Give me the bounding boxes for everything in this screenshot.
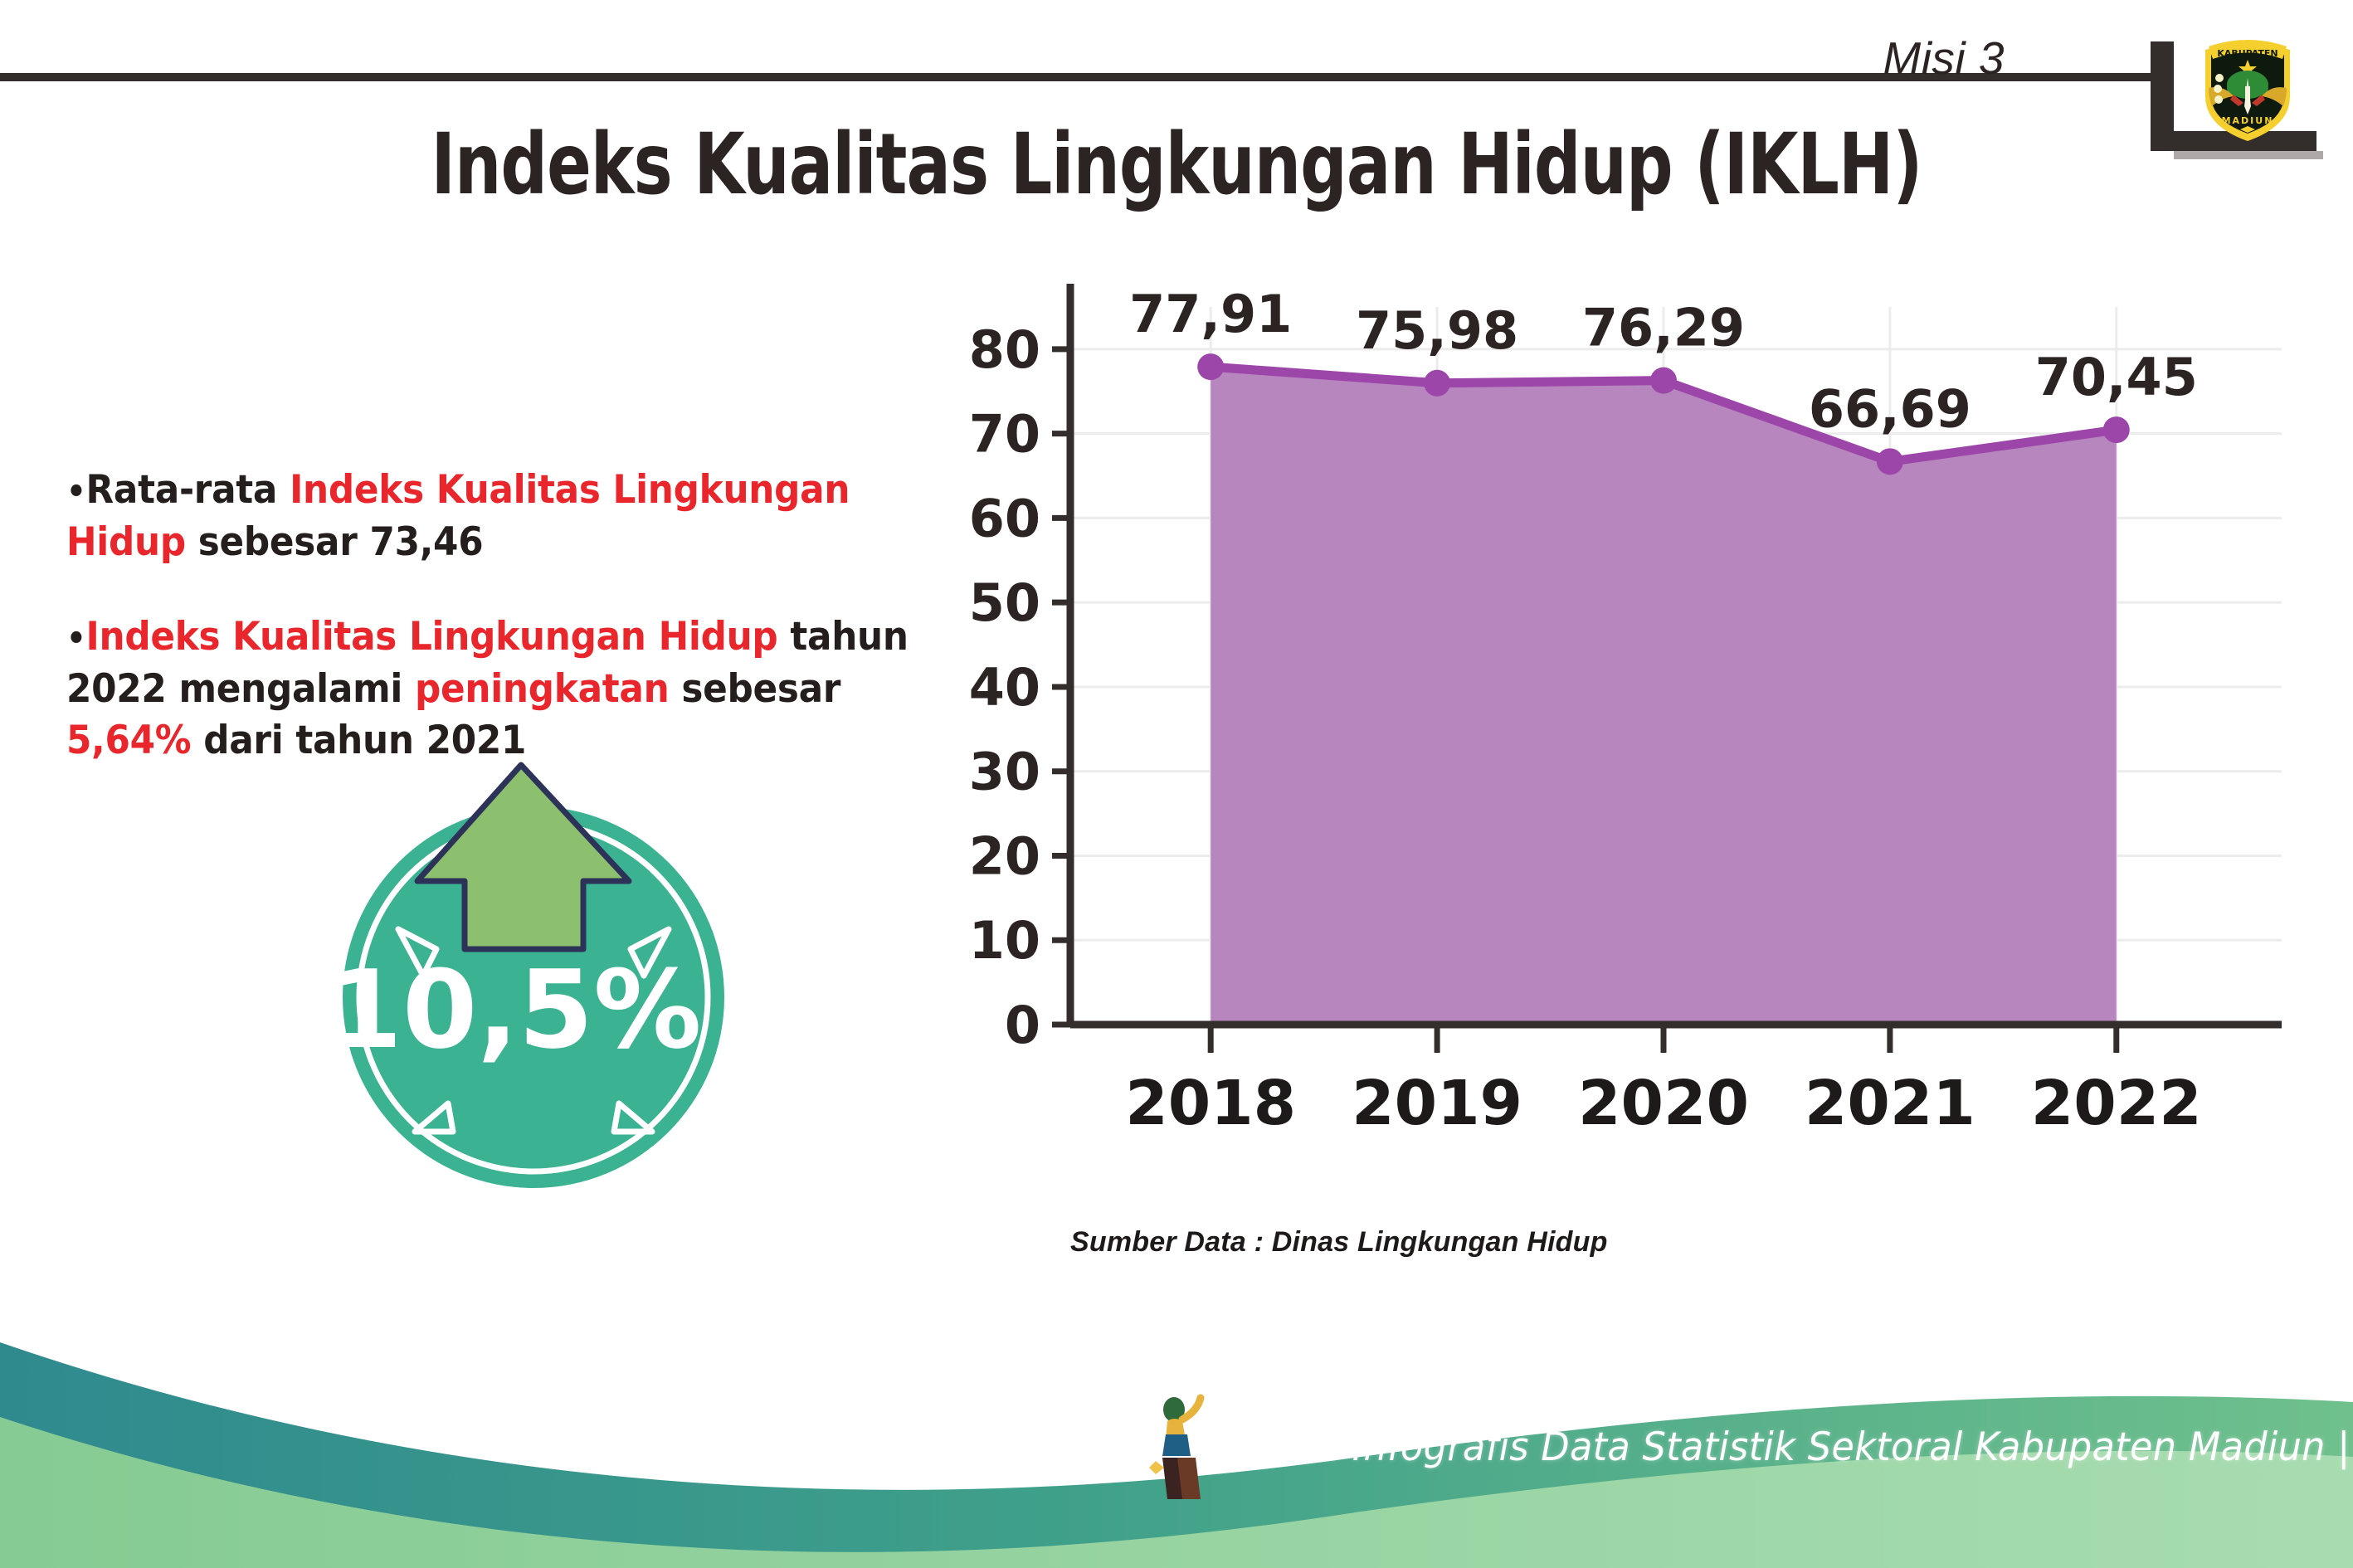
data-label: 76,29 [1582, 298, 1745, 358]
iklh-area-chart: 77,9175,9876,2966,6970,45010203040506070… [954, 274, 2298, 1203]
bullet-2-seg-1: Indeks Kualitas Lingkungan Hidup [86, 614, 778, 660]
mission-label: Misi 3 [1883, 32, 2005, 85]
bullet-1-seg-1: Rata-rata [86, 467, 290, 513]
data-point-marker [1650, 368, 1677, 394]
footer-caption: Media Infografis Data Statistik Sektoral… [1228, 1424, 2351, 1470]
data-point-marker [1424, 370, 1450, 397]
page-title: Indeks Kualitas Lingkungan Hidup (IKLH) [94, 116, 2258, 214]
y-tick-label: 0 [1005, 995, 1040, 1055]
bullet-2-seg-3: peningkatan [415, 666, 669, 712]
data-label: 75,98 [1356, 300, 1518, 361]
y-tick-label: 60 [969, 488, 1040, 548]
data-point-marker [1197, 353, 1224, 380]
data-point-marker [1877, 448, 1903, 475]
y-tick-label: 20 [969, 825, 1040, 886]
x-tick-label: 2018 [1125, 1068, 1296, 1139]
data-point-marker [2103, 416, 2130, 443]
bullet-item-2: •Indeks Kualitas Lingkungan Hidup tahun … [66, 611, 923, 767]
x-tick-label: 2021 [1805, 1068, 1975, 1139]
y-tick-label: 70 [969, 404, 1040, 465]
bullet-1-seg-3: sebesar 73,46 [186, 519, 483, 565]
bullet-2-seg-4: sebesar [669, 666, 840, 712]
x-tick-label: 2019 [1352, 1068, 1522, 1139]
header-divider [0, 73, 2157, 81]
infographic-slide: Misi 3 KABUPATEN [0, 0, 2353, 1568]
y-tick-label: 50 [969, 572, 1040, 633]
y-tick-label: 40 [969, 657, 1040, 718]
x-tick-label: 2022 [2031, 1068, 2202, 1139]
footer-wave: Media Infografis Data Statistik Sektoral… [0, 1294, 2353, 1568]
increase-badge: 10,5% [322, 757, 753, 1196]
y-tick-label: 80 [969, 319, 1040, 380]
bullet-item-1: •Rata-rata Indeks Kualitas Lingkungan Hi… [66, 465, 923, 568]
data-label: 77,91 [1129, 284, 1292, 344]
svg-text:KABUPATEN: KABUPATEN [2217, 48, 2277, 59]
data-label: 70,45 [2035, 347, 2198, 407]
chart-source-note: Sumber Data : Dinas Lingkungan Hidup [1070, 1226, 1608, 1259]
x-tick-label: 2020 [1578, 1068, 1749, 1139]
y-tick-label: 30 [969, 742, 1040, 802]
area-fill [1211, 367, 2117, 1025]
y-tick-label: 10 [969, 910, 1040, 971]
bullet-2-seg-5: 5,64% [66, 718, 191, 763]
bullet-dot-icon: • [66, 473, 86, 511]
media-infografis-logo-icon [1149, 1391, 1224, 1503]
data-label: 66,69 [1809, 378, 1971, 439]
badge-value-text: 10,5% [327, 947, 701, 1073]
bullet-dot-icon: • [66, 620, 86, 658]
